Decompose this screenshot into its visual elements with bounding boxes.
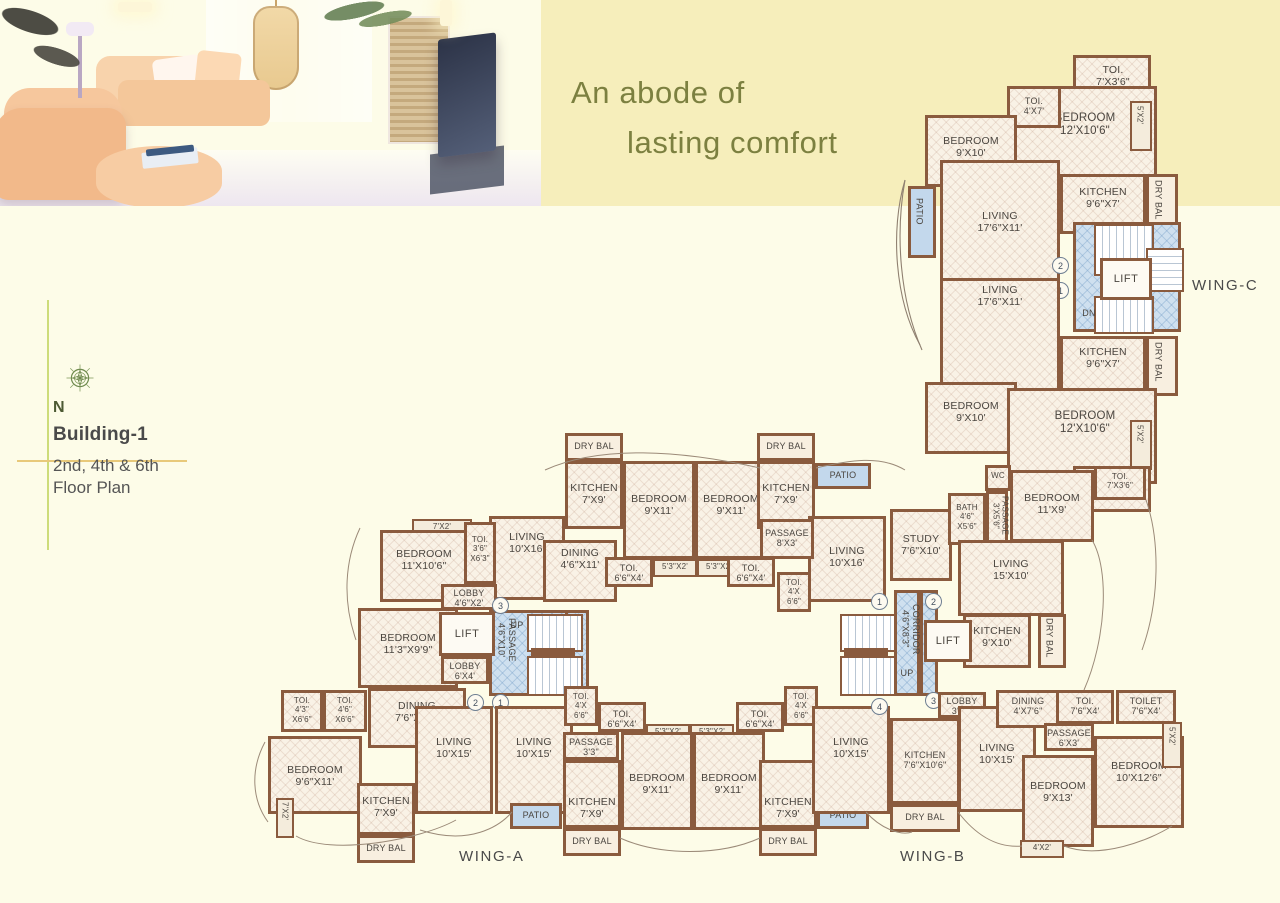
wing-b-toilet-se-2 (1116, 690, 1176, 724)
wing-c-dry-bal-bottom (1146, 336, 1178, 396)
center-bottom-dry-bal-2 (759, 828, 817, 856)
wing-c-ledge-top (1130, 101, 1152, 151)
center-top-patio (815, 463, 871, 489)
wing-b-sill-se (1020, 840, 1064, 858)
center-bottom-toilet-a (564, 686, 598, 726)
wing-b-corridor (894, 590, 920, 696)
wing-b-living-ne (958, 540, 1064, 616)
wing-b-bedroom-s (1022, 755, 1094, 847)
wing-b-dry-bal-se (890, 804, 960, 832)
wing-b-lift[interactable]: LIFT (924, 620, 972, 662)
wing-a-dry-bal-sw (357, 835, 415, 863)
center-bottom-toilet-b (598, 702, 646, 732)
wing-a-lift[interactable]: LIFT (439, 612, 495, 656)
center-top-toilet-b (727, 557, 775, 587)
wing-a-lobby-upper (441, 584, 497, 610)
wing-b-bath (948, 493, 986, 545)
center-bottom-kitchen-1 (563, 760, 621, 828)
wing-a-living-sw (415, 706, 493, 814)
wing-b-dry-bal-ne (1038, 614, 1066, 668)
wing-a-kitchen-sw (357, 783, 415, 835)
wing-a-flat-marker-3[interactable]: 3 (492, 597, 509, 614)
center-top-dry-bal-2 (757, 433, 815, 461)
wing-b-toilet-se-1 (1056, 690, 1114, 724)
wing-c-kitchen-bottom (1060, 336, 1146, 396)
wing-c-living-top (940, 160, 1060, 292)
wing-c-ledge-bottom (1130, 420, 1152, 470)
wing-c-flat-marker-2[interactable]: 2 (1052, 257, 1069, 274)
wing-b-passage-se (1044, 723, 1094, 751)
wing-a-toilet-nw (464, 522, 496, 584)
wing-c-stair-lower (1094, 296, 1154, 334)
wing-b-kitchen-se (890, 718, 960, 804)
wing-a-lobby-lower (441, 656, 489, 684)
center-bottom-bedroom-2 (693, 732, 765, 830)
wing-a-stair-upper (527, 614, 583, 652)
center-top-toilet-a (605, 557, 653, 587)
center-top-bedroom-1 (623, 461, 695, 559)
wing-a-sill-sw (276, 798, 294, 838)
center-top-ledge-a (653, 559, 697, 577)
center-bottom-living-right (812, 706, 890, 814)
center-top-passage-right (760, 519, 814, 559)
wing-a-toilet-sw-1 (281, 690, 323, 732)
wing-b-wc (985, 465, 1011, 491)
center-bottom-bedroom-1 (621, 732, 693, 830)
center-bottom-kitchen-2 (759, 760, 817, 828)
wing-b-stair-landing (844, 648, 888, 657)
wing-b-study (890, 509, 952, 581)
center-top-living-right (808, 516, 886, 602)
wing-b-stair-upper (840, 614, 896, 652)
wing-c-patio (908, 186, 936, 258)
wing-b-kitchen-ne (963, 614, 1031, 668)
wing-b-flat-marker-4[interactable]: 4 (871, 698, 888, 715)
center-top-kitchen-1 (565, 461, 623, 529)
wing-b-flat-marker-2[interactable]: 2 (925, 593, 942, 610)
floor-plan-drawing: WING-C TOI. 7'X3'6" BEDROOM 12'X10'6" 5'… (0, 0, 1280, 903)
wing-a-label: WING-A (459, 848, 524, 865)
center-bottom-toilet-c (736, 702, 784, 732)
wing-b-label: WING-B (900, 848, 965, 865)
center-top-dry-bal-1 (565, 433, 623, 461)
wing-b-toilet-ne (1094, 466, 1146, 500)
wing-a-toilet-sw-2 (323, 690, 367, 732)
center-bottom-patio-left (510, 803, 562, 829)
center-bottom-dry-bal-1 (563, 828, 621, 856)
wing-b-stair-lower (840, 656, 896, 696)
wing-c-label: WING-C (1192, 277, 1258, 294)
wing-c-lift[interactable]: LIFT (1100, 258, 1152, 300)
wing-c-bedroom2-bottom (925, 382, 1017, 454)
wing-b-ledge-se (1162, 722, 1182, 768)
wing-a-flat-marker-2[interactable]: 2 (467, 694, 484, 711)
center-top-toilet-c (777, 572, 811, 612)
wing-b-flat-marker-1[interactable]: 1 (871, 593, 888, 610)
center-bottom-living-left (495, 706, 573, 814)
center-bottom-passage-left (563, 732, 619, 760)
wing-a-stair-landing (531, 648, 575, 657)
wing-b-bedroom-ne (1010, 470, 1094, 542)
